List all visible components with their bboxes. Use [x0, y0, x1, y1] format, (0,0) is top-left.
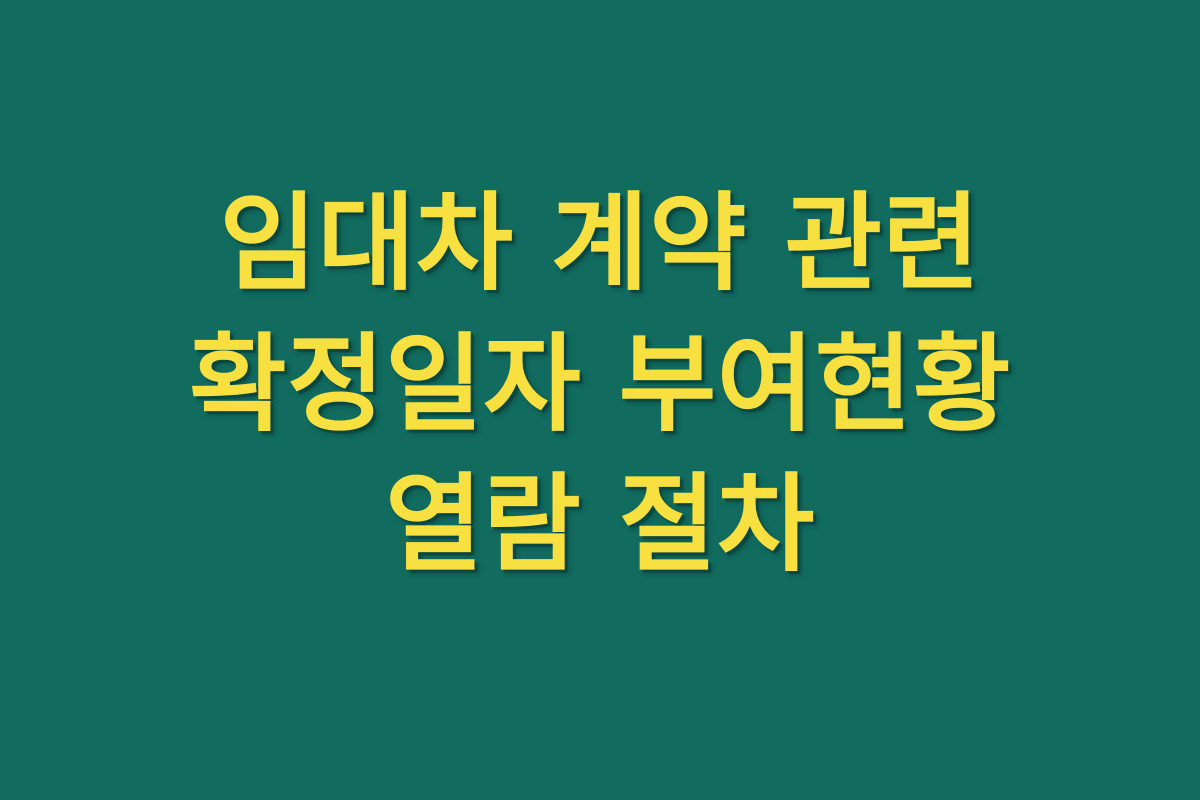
page-title: 임대차 계약 관련 확정일자 부여현황 열람 절차: [77, 174, 1123, 597]
thumbnail-canvas: 임대차 계약 관련 확정일자 부여현황 열람 절차: [0, 0, 1200, 800]
headline-block: 임대차 계약 관련 확정일자 부여현황 열람 절차: [77, 174, 1123, 627]
